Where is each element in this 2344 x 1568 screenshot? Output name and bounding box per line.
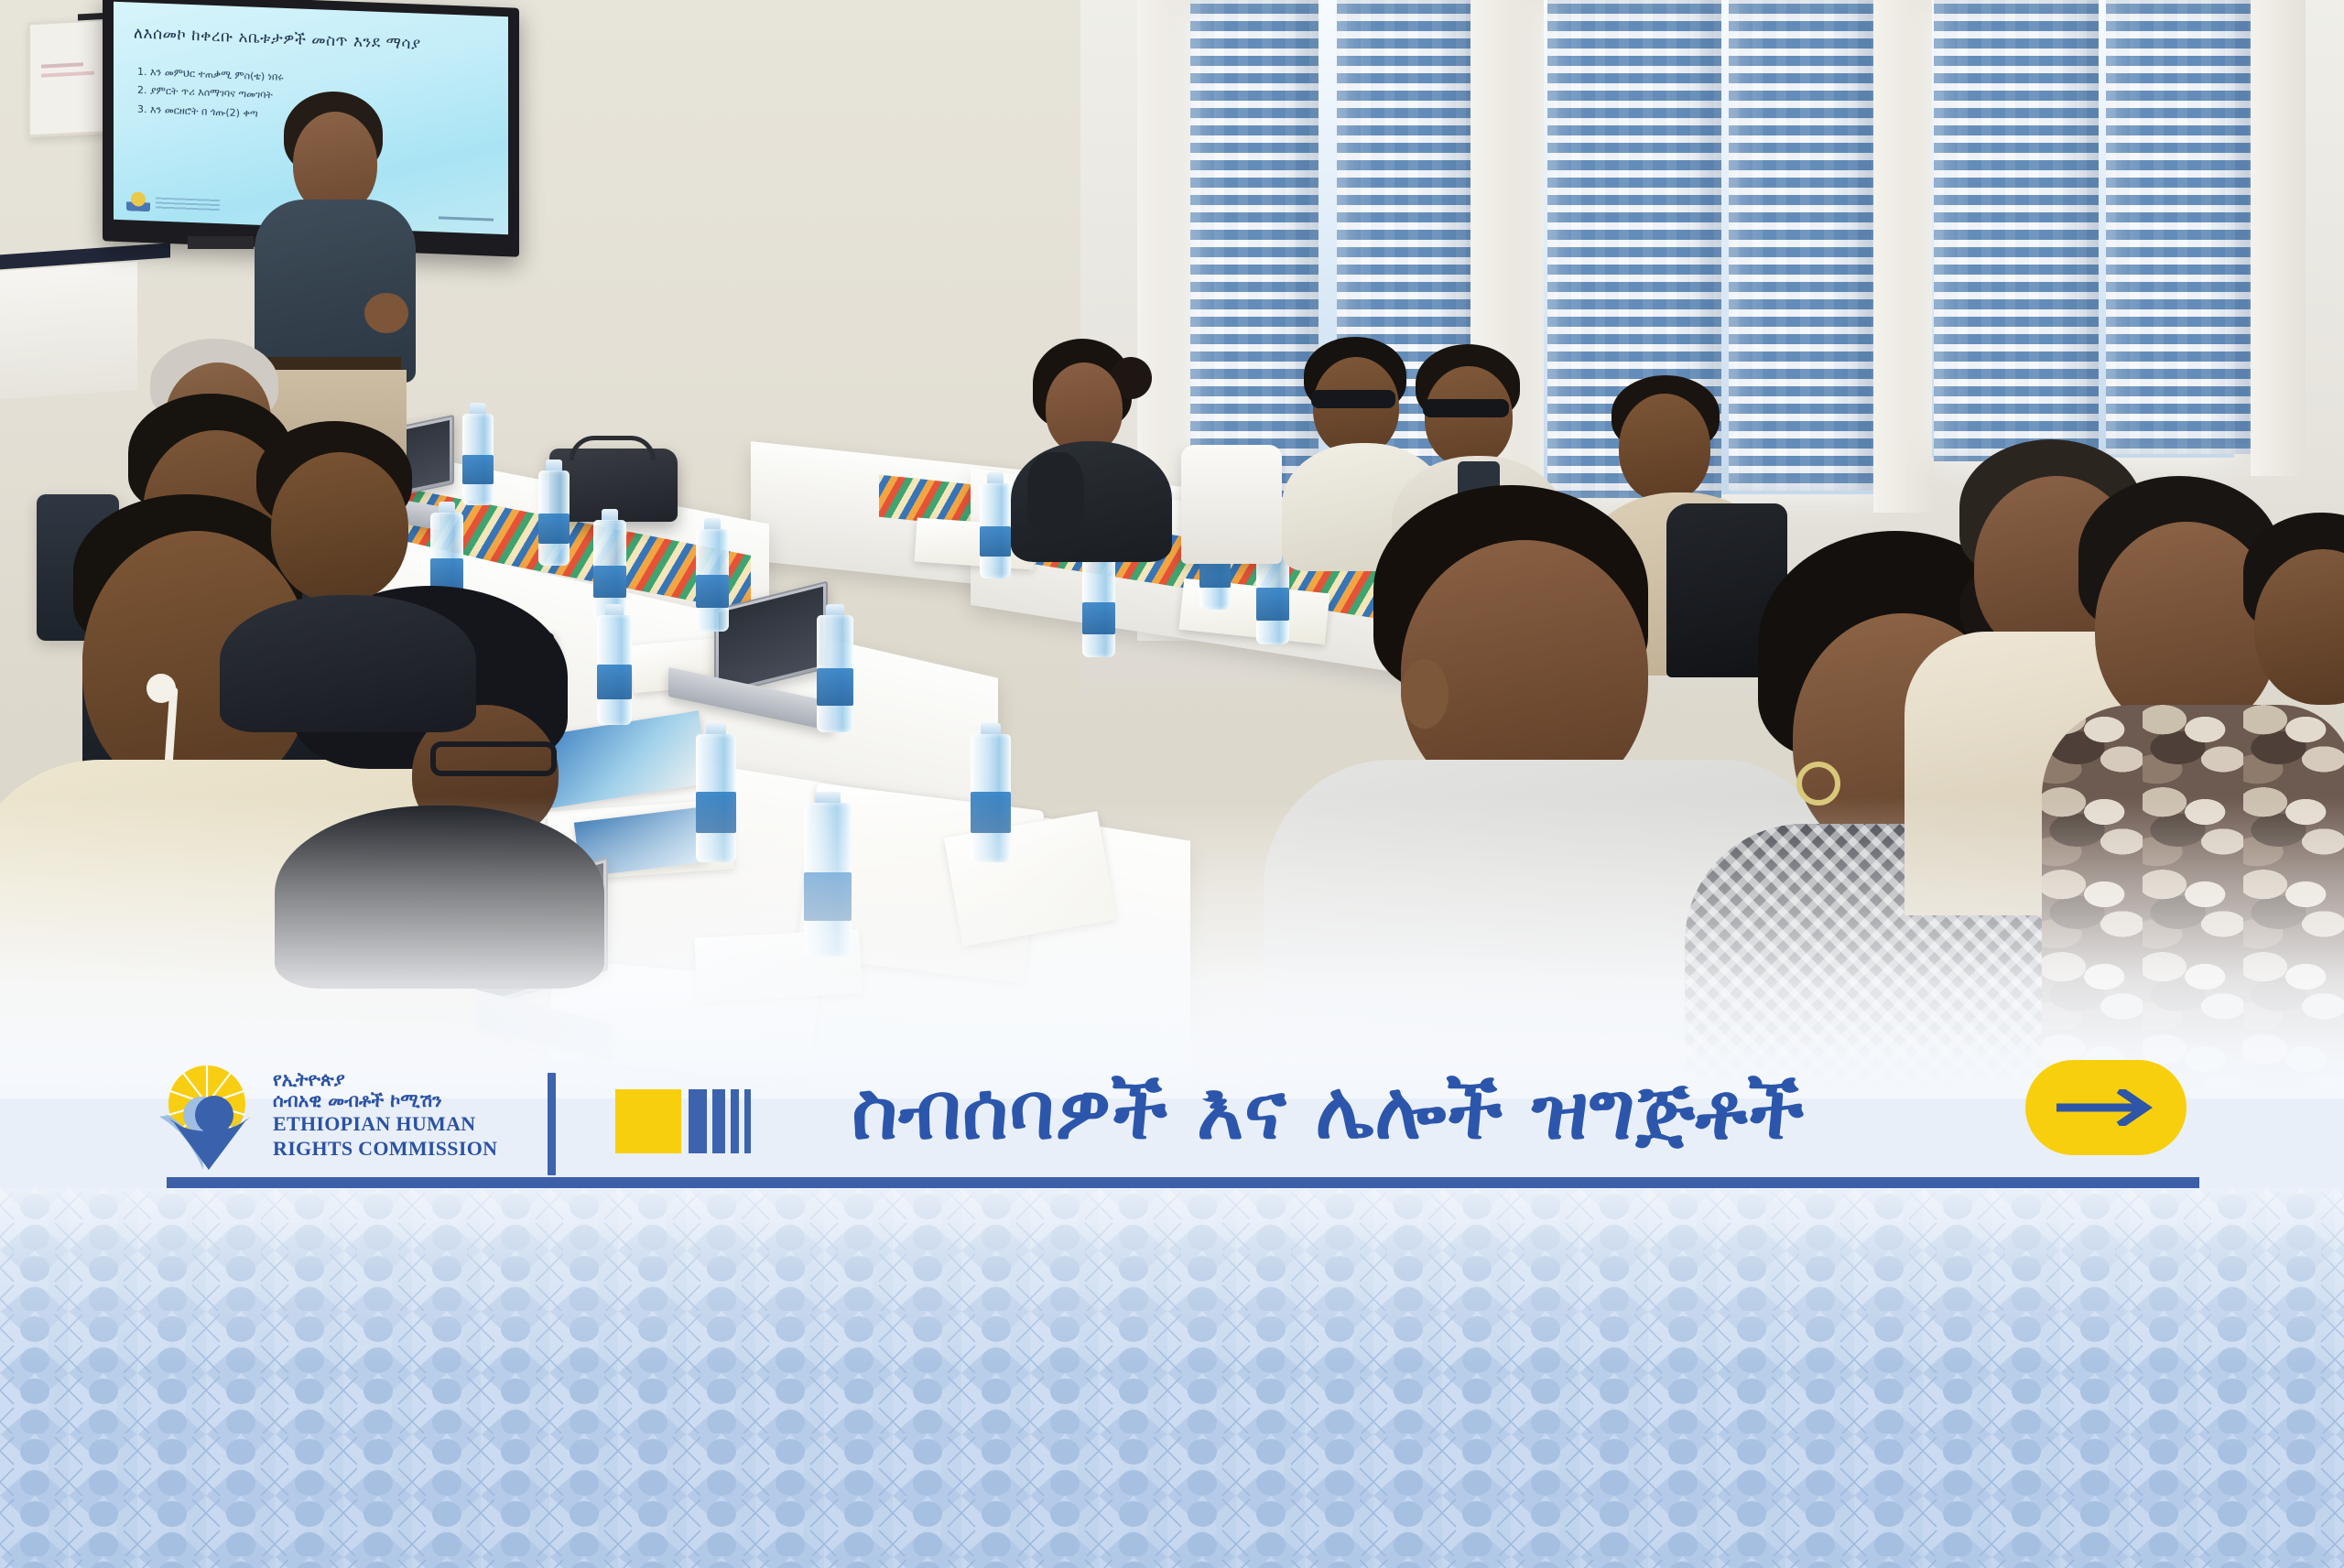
board-line-2 <box>41 71 94 78</box>
arm <box>1027 452 1084 535</box>
earphone-bud-icon <box>146 674 176 703</box>
bottle-label <box>817 668 853 706</box>
bottle-body <box>538 470 570 566</box>
board-clip <box>78 13 103 20</box>
blue-bar-1 <box>689 1089 707 1153</box>
window-pillar-3 <box>1873 0 1934 513</box>
blue-bar-4 <box>744 1089 751 1153</box>
water-bottle-14 <box>804 792 852 957</box>
water-bottle-11 <box>817 604 853 732</box>
bottle-label <box>538 514 570 544</box>
bottle-body <box>696 529 729 632</box>
bottle-body <box>1082 557 1115 657</box>
arrow-right-icon <box>2056 1089 2155 1126</box>
bottle-body <box>817 615 853 732</box>
water-bottle-6 <box>980 472 1011 579</box>
presenter-hand <box>364 293 408 333</box>
head <box>271 452 408 602</box>
water-bottle-12 <box>696 723 736 862</box>
curtain-5 <box>1934 0 2099 461</box>
water-bottle-5 <box>696 518 729 632</box>
window-pillar-4 <box>2251 0 2306 476</box>
blue-bars-accent <box>689 1089 751 1153</box>
wall-notice-board <box>27 18 112 138</box>
slide-footer-line <box>439 216 494 221</box>
bottle-body <box>804 803 852 957</box>
ear <box>1401 659 1449 729</box>
person-man-upper-right-edge <box>2243 513 2344 787</box>
eyeglasses-icon <box>430 741 557 776</box>
torso <box>220 595 476 732</box>
bottle-body <box>696 734 736 862</box>
bottle-label <box>971 792 1011 833</box>
org-name-english-line2: RIGHTS COMMISSION <box>273 1137 497 1162</box>
earring <box>1796 762 1840 806</box>
bottle-body <box>971 734 1011 862</box>
decorative-pattern-footer <box>0 1188 2344 1568</box>
bottle-label <box>696 792 736 833</box>
water-bottle-13 <box>971 723 1011 862</box>
banner-title: ስብሰባዎች እና ሌሎች ዝግጅቶች <box>852 1044 1978 1181</box>
person-left-mid <box>220 421 476 723</box>
bottle-label <box>980 526 1011 557</box>
poster-canvas: ለእሰመኮ ከቀረቡ አቤቱታዎች መስጥ እንደ ማሳያ 1. እን መምህር… <box>0 0 2344 1568</box>
blue-bar-3 <box>731 1089 739 1153</box>
event-photo: ለእሰመኮ ከቀረቡ አቤቱታዎች መስጥ እንደ ማሳያ 1. እን መምህር… <box>0 0 2344 1098</box>
bottle-label <box>696 575 729 608</box>
curtain-6 <box>2106 0 2252 454</box>
slide-logo-icon <box>126 190 150 211</box>
water-bottle-8 <box>1082 546 1115 657</box>
yellow-block-accent <box>615 1089 681 1153</box>
slide-logo-wordmark <box>156 197 220 212</box>
torso <box>275 806 604 989</box>
head <box>1046 362 1123 454</box>
board-line-1 <box>41 62 83 68</box>
water-bottle-2 <box>538 460 570 566</box>
bottle-body <box>980 483 1011 579</box>
bottle-label <box>804 872 852 922</box>
sunglasses-icon <box>1423 399 1509 417</box>
bottle-label <box>1082 602 1115 634</box>
slide-title: ለእሰመኮ ከቀረቡ አቤቱታዎች መስጥ እንደ ማሳያ <box>134 25 497 57</box>
blue-bar-2 <box>712 1089 725 1153</box>
wall-whiteboard <box>0 262 137 402</box>
person-woman-far-center <box>1007 339 1172 549</box>
pattern-tile-layer <box>0 1188 2344 1568</box>
next-arrow-button[interactable] <box>2025 1060 2187 1155</box>
org-name-english-line1: ETHIOPIAN HUMAN <box>273 1112 497 1137</box>
sunglasses-icon <box>1311 390 1395 408</box>
